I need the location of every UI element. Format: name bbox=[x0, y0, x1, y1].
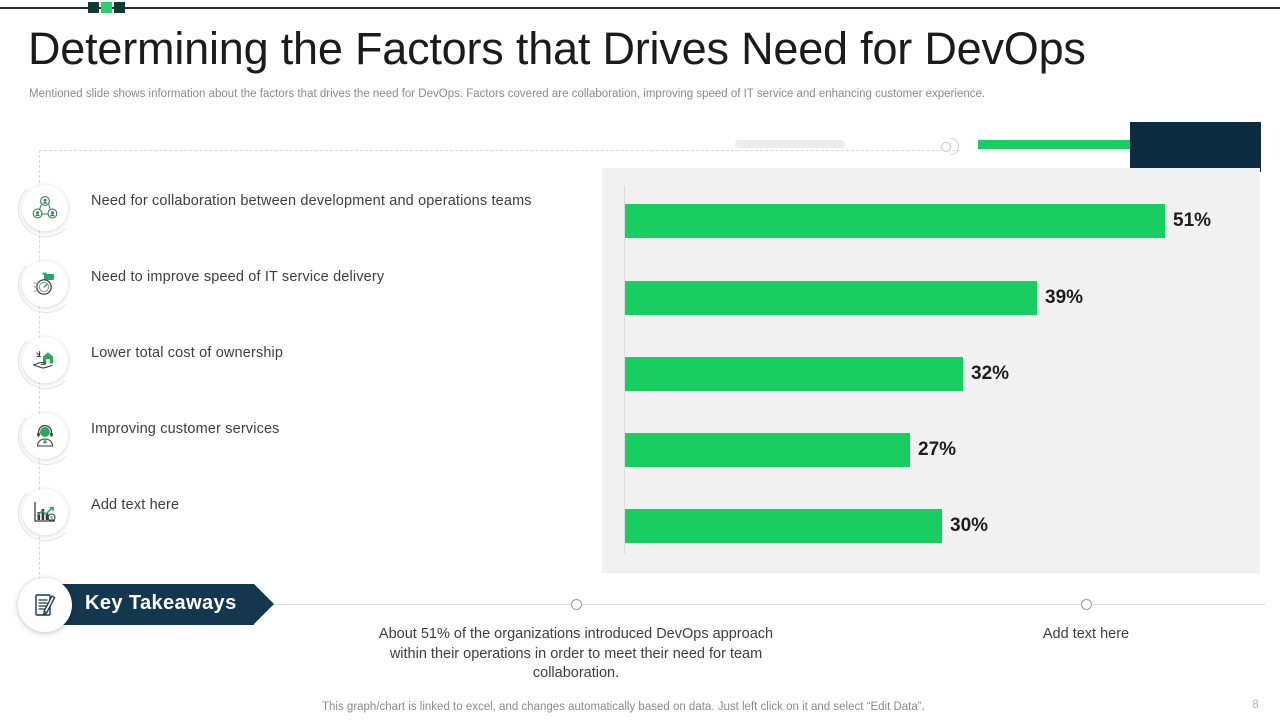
chart-source-note: This graph/chart is linked to excel, and… bbox=[322, 701, 925, 713]
chart-bar-group: 30% bbox=[625, 509, 942, 543]
factor-label: Lower total cost of ownership bbox=[91, 345, 283, 361]
decorative-circle-marker bbox=[941, 142, 951, 152]
team-collaboration-icon bbox=[22, 185, 68, 231]
factors-list: Need for collaboration between developme… bbox=[0, 175, 600, 555]
chart-bar bbox=[625, 204, 1165, 238]
list-item[interactable]: $ Add text here bbox=[0, 479, 600, 555]
top-accent-square-middle bbox=[101, 2, 112, 13]
takeaway-text: Add text here bbox=[986, 625, 1186, 645]
factor-icon-wrapper: $ bbox=[22, 489, 68, 535]
factor-icon-wrapper bbox=[22, 413, 68, 459]
page-subtitle: Mentioned slide shows information about … bbox=[29, 86, 1149, 102]
factor-icon-wrapper bbox=[22, 337, 68, 383]
chart-bar-group: 51% bbox=[625, 204, 1165, 238]
chart-bar bbox=[625, 281, 1037, 315]
chart-bar-value: 30% bbox=[950, 515, 988, 537]
svg-text:$: $ bbox=[50, 516, 53, 522]
slide-canvas: Determining the Factors that Drives Need… bbox=[0, 0, 1280, 720]
takeaways-connector-line bbox=[265, 604, 1265, 605]
key-takeaways-label: Key Takeaways bbox=[85, 592, 237, 615]
factor-label: Improving customer services bbox=[91, 421, 280, 437]
factor-icon-wrapper bbox=[22, 185, 68, 231]
growth-chart-icon: $ bbox=[22, 489, 68, 535]
chart-bar-value: 39% bbox=[1045, 287, 1083, 309]
factor-label: Add text here bbox=[91, 497, 179, 513]
notepad-pencil-icon bbox=[18, 578, 72, 632]
chart-bar bbox=[625, 433, 910, 467]
accent-navy-block bbox=[1130, 122, 1261, 172]
takeaway-node-marker bbox=[1081, 599, 1092, 610]
takeaway-text: About 51% of the organizations introduce… bbox=[376, 625, 776, 684]
decorative-dashed-line-top-right bbox=[735, 150, 960, 152]
decorative-gray-band bbox=[735, 140, 845, 148]
list-item[interactable]: Need for collaboration between developme… bbox=[0, 175, 600, 251]
chart-bar-group: 39% bbox=[625, 281, 1037, 315]
key-takeaways-banner-arrow bbox=[254, 584, 274, 624]
list-item[interactable]: Lower total cost of ownership bbox=[0, 327, 600, 403]
factor-label: Need for collaboration between developme… bbox=[91, 193, 532, 209]
stopwatch-speed-icon bbox=[22, 261, 68, 307]
chart-bar bbox=[625, 509, 942, 543]
page-title: Determining the Factors that Drives Need… bbox=[28, 22, 1188, 76]
list-item[interactable]: Improving customer services bbox=[0, 403, 600, 479]
top-divider-rule bbox=[0, 7, 1280, 9]
chart-bar-group: 27% bbox=[625, 433, 910, 467]
factor-icon-wrapper bbox=[22, 261, 68, 307]
top-accent-square-left bbox=[88, 2, 99, 13]
list-item[interactable]: Need to improve speed of IT service deli… bbox=[0, 251, 600, 327]
chart-bar-group: 32% bbox=[625, 357, 963, 391]
chart-bar-value: 51% bbox=[1173, 210, 1211, 232]
decorative-dashed-line-top bbox=[39, 150, 739, 152]
chart-bar bbox=[625, 357, 963, 391]
page-number: 8 bbox=[1252, 697, 1259, 711]
decorative-arc-marker bbox=[951, 138, 959, 155]
house-in-hand-icon bbox=[22, 337, 68, 383]
takeaway-node-marker bbox=[571, 599, 582, 610]
factor-label: Need to improve speed of IT service deli… bbox=[91, 269, 384, 285]
headset-agent-icon bbox=[22, 413, 68, 459]
top-accent-square-right bbox=[114, 2, 125, 13]
chart-bar-value: 27% bbox=[918, 439, 956, 461]
chart-bar-value: 32% bbox=[971, 363, 1009, 385]
bar-chart-panel[interactable]: 51% 39% 32% 27% 30% bbox=[602, 168, 1260, 573]
